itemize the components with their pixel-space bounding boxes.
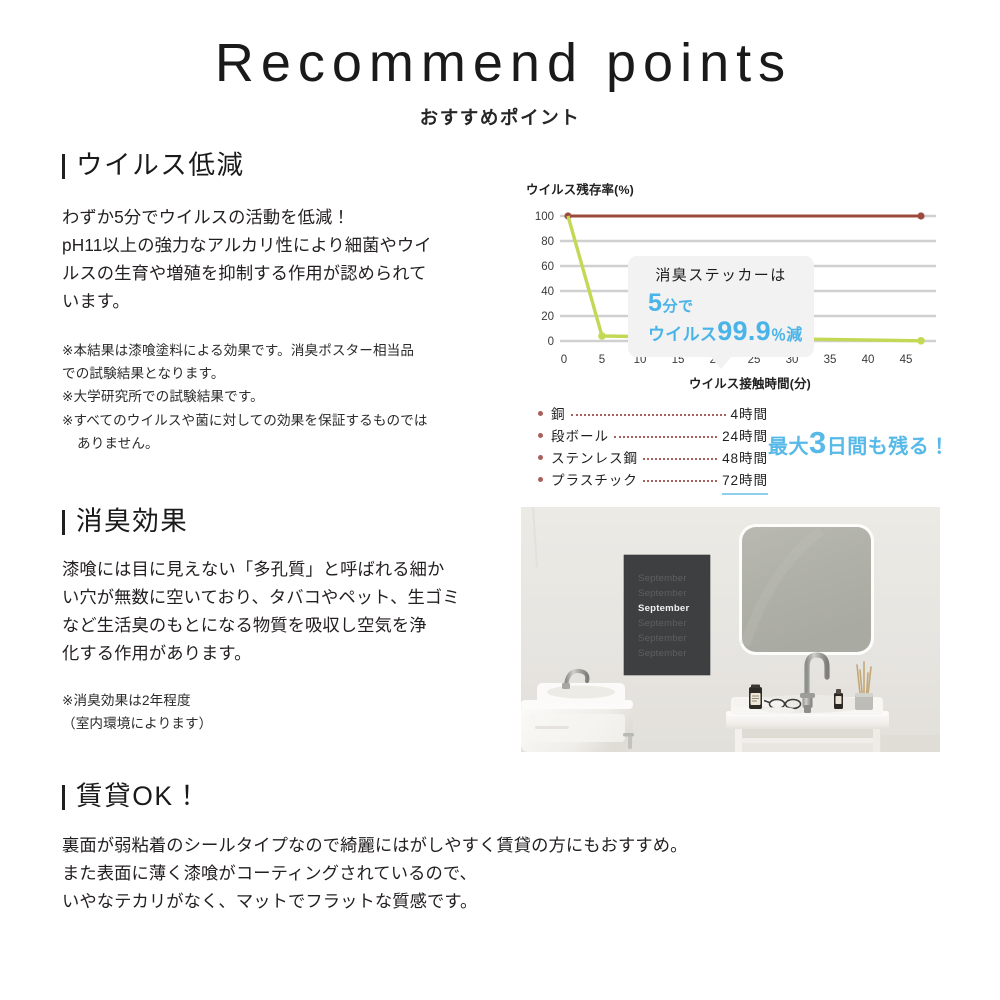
legend-row: 銅 4時間 (538, 404, 768, 426)
legend-row: ステンレス鋼 48時間 (538, 448, 768, 470)
svg-text:60: 60 (541, 261, 554, 273)
section-deodorizing-effect: 消臭効果 漆喰には目に見えない「多孔質」と呼ばれる細か い穴が無数に空いており、… (62, 508, 514, 735)
callout-reduction-number: 99.9 (717, 316, 771, 346)
body-line: 化する作用があります。 (62, 639, 514, 667)
body-line: また表面に薄く漆喰がコーティングされているので、 (62, 859, 862, 887)
bullet-dot-icon (538, 477, 543, 482)
callout-line-1: 消臭ステッカーは (634, 267, 808, 285)
september-poster: September September September September … (624, 555, 710, 675)
chart-x-axis-label: ウイルス接触時間(分) (524, 374, 940, 392)
chart-plot-area: 0 20 40 60 80 100 0 5 10 15 20 25 30 35 … (524, 208, 940, 368)
heading-accent-bar (62, 510, 65, 535)
note-line: （室内環境によります） (62, 712, 514, 735)
svg-text:40: 40 (862, 354, 875, 366)
svg-text:100: 100 (535, 211, 554, 223)
section-title-text: ウイルス低減 (76, 152, 245, 179)
bathroom-interior-photo: September September September September … (521, 507, 940, 752)
body-line: 漆喰には目に見えない「多孔質」と呼ばれる細か (62, 555, 514, 583)
section-body-virus: わずか5分でウイルスの活動を低減！ pH11以上の強力なアルカリ性により細菌やウ… (62, 203, 514, 315)
legend-material-name: 段ボール (551, 426, 609, 448)
section-heading-rental: 賃貸OK！ (62, 783, 862, 810)
section-rental-ok: 賃貸OK！ 裏面が弱粘着のシールタイプなので綺麗にはがしやすく賃貸の方にもおすす… (62, 783, 862, 915)
highlight-suffix: 日間も残る！ (827, 436, 950, 458)
material-survival-legend: 銅 4時間 段ボール 24時間 ステンレス鋼 48時間 プラスチック 72時間 (538, 404, 768, 495)
highlight-days-number: 3 (809, 425, 827, 460)
svg-text:September: September (638, 633, 687, 644)
svg-text:September: September (638, 648, 687, 659)
callout-reduction-suffix: 減 (786, 327, 802, 344)
callout-percent-sign: ％ (771, 327, 786, 344)
note-line: ※本結果は漆喰塗料による効果です。消臭ポスター相当品 (62, 339, 514, 362)
wall-mirror (739, 524, 874, 655)
svg-text:September: September (638, 618, 687, 629)
note-line: ※大学研究所での試験結果です。 (62, 385, 514, 408)
svg-text:5: 5 (599, 354, 605, 366)
chart-series-red (564, 212, 924, 219)
photo-svg: September September September September … (521, 507, 940, 752)
section-notes-virus: ※本結果は漆喰塗料による効果です。消臭ポスター相当品 での試験結果となります。 … (62, 339, 514, 456)
section-body-rental: 裏面が弱粘着のシールタイプなので綺麗にはがしやすく賃貸の方にもおすすめ。 また表… (62, 831, 862, 915)
callout-virus-word: ウイルス (648, 325, 717, 344)
bullet-dot-icon (538, 433, 543, 438)
body-line: など生活臭のもとになる物質を吸収し空気を浄 (62, 611, 514, 639)
dotted-leader (643, 458, 717, 460)
legend-row: 段ボール 24時間 (538, 426, 768, 448)
body-line: い穴が無数に空いており、タバコやペット、生ゴミ (62, 583, 514, 611)
legend-duration-value: 24時間 (722, 426, 768, 448)
svg-text:35: 35 (824, 354, 837, 366)
legend-material-name: プラスチック (551, 470, 638, 492)
body-line: 裏面が弱粘着のシールタイプなので綺麗にはがしやすく賃貸の方にもおすすめ。 (62, 831, 862, 859)
page-subtitle: おすすめポイント (0, 104, 1000, 130)
svg-text:September: September (638, 603, 689, 614)
dotted-leader (571, 414, 726, 416)
page-title: Recommend points (0, 34, 1000, 92)
note-line: での試験結果となります。 (62, 362, 514, 385)
section-notes-deodor: ※消臭効果は2年程度 （室内環境によります） (62, 689, 514, 736)
svg-text:80: 80 (541, 236, 554, 248)
body-line: ルスの生育や増殖を抑制する作用が認められて (62, 259, 514, 287)
virus-survival-chart: ウイルス残存率(%) 0 20 40 60 80 100 (524, 180, 940, 392)
section-body-deodor: 漆喰には目に見えない「多孔質」と呼ばれる細か い穴が無数に空いており、タバコやペ… (62, 555, 514, 667)
section-heading-deodor: 消臭効果 (62, 508, 514, 535)
heading-accent-bar (62, 785, 65, 810)
legend-duration-value: 72時間 (722, 470, 768, 495)
section-title-text: 消臭効果 (76, 508, 188, 535)
svg-text:September: September (638, 588, 687, 599)
chart-y-ticks: 0 20 40 60 80 100 (535, 211, 554, 348)
chart-callout-bubble: 消臭ステッカーは 5分で ウイルス99.9％減 (628, 256, 814, 357)
svg-text:0: 0 (561, 354, 567, 366)
callout-minutes-number: 5 (648, 289, 663, 317)
note-line: ありません。 (62, 432, 514, 455)
callout-line-3: ウイルス99.9％減 (634, 317, 808, 345)
bullet-dot-icon (538, 411, 543, 416)
note-line: ※消臭効果は2年程度 (62, 689, 514, 712)
bullet-dot-icon (538, 455, 543, 460)
body-line: います。 (62, 287, 514, 315)
legend-duration-value: 48時間 (722, 448, 768, 470)
legend-material-name: 銅 (551, 404, 566, 426)
svg-text:0: 0 (548, 336, 554, 348)
legend-row: プラスチック 72時間 (538, 470, 768, 495)
highlight-prefix: 最大 (768, 436, 809, 458)
heading-accent-bar (62, 154, 65, 179)
dotted-leader (614, 436, 717, 438)
body-line: わずか5分でウイルスの活動を低減！ (62, 203, 514, 231)
svg-text:September: September (638, 573, 687, 584)
page-header: Recommend points おすすめポイント (0, 34, 1000, 130)
body-line: いやなテカリがなく、マットでフラットな質感です。 (62, 887, 862, 915)
note-line: ※すべてのウイルスや菌に対しての効果を保証するものでは (62, 409, 514, 432)
body-line: pH11以上の強力なアルカリ性により細菌やウイ (62, 231, 514, 259)
section-heading-virus: ウイルス低減 (62, 152, 514, 179)
legend-material-name: ステンレス鋼 (551, 448, 638, 470)
legend-highlight-text: 最大3日間も残る！ (768, 427, 950, 458)
section-title-text: 賃貸OK！ (76, 783, 202, 810)
callout-line-2: 5分で (634, 290, 808, 316)
callout-minutes-unit: 分で (663, 298, 694, 315)
chart-y-axis-label: ウイルス残存率(%) (526, 180, 940, 198)
svg-text:40: 40 (541, 286, 554, 298)
legend-duration-value: 4時間 (731, 404, 768, 426)
svg-text:20: 20 (541, 311, 554, 323)
dotted-leader (643, 480, 717, 482)
svg-text:45: 45 (900, 354, 913, 366)
section-virus-reduction: ウイルス低減 わずか5分でウイルスの活動を低減！ pH11以上の強力なアルカリ性… (62, 152, 514, 455)
